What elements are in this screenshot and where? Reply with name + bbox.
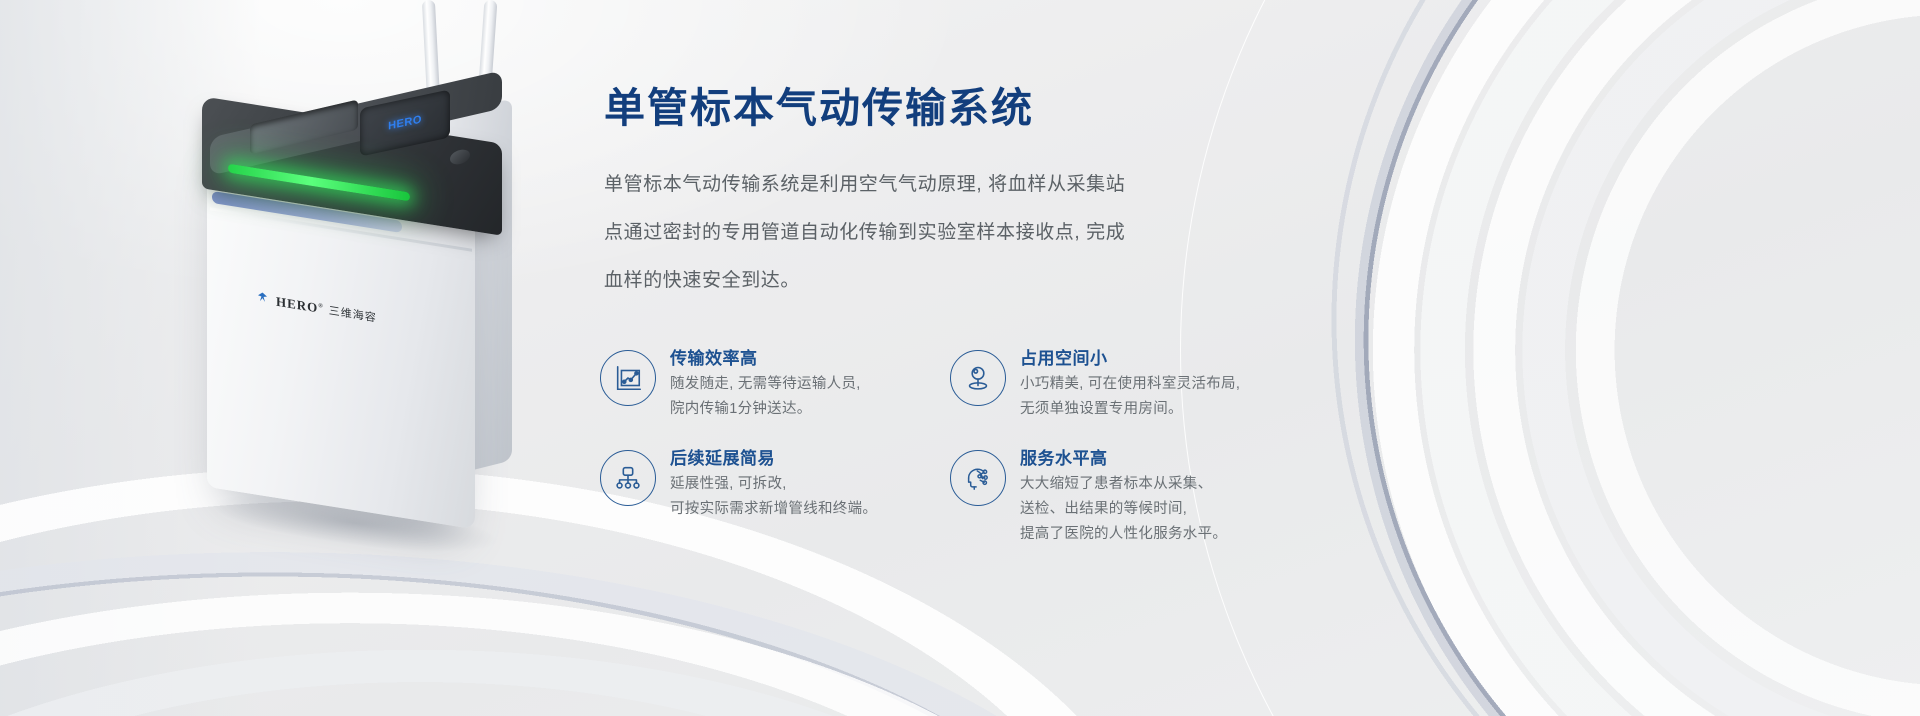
smart-head-icon xyxy=(950,450,1006,506)
screen-logo-text: HERO xyxy=(388,113,422,132)
feature-description: 延展性强, 可拆改, 可按实际需求新增管线和终端。 xyxy=(670,472,877,522)
feature-text: 后续延展简易 延展性强, 可拆改, 可按实际需求新增管线和终端。 xyxy=(670,448,877,522)
feature-title: 占用空间小 xyxy=(1020,348,1240,371)
product-image: HERO HERO® 三维海容 xyxy=(150,0,570,560)
feature-text: 服务水平高 大大缩短了患者标本从采集、 送检、出结果的等候时间, 提高了医院的人… xyxy=(1020,448,1227,547)
description-line: 单管标本气动传输系统是利用空气气动原理, 将血样从采集站 xyxy=(604,161,1264,209)
feature-description: 大大缩短了患者标本从采集、 送检、出结果的等候时间, 提高了医院的人性化服务水平… xyxy=(1020,472,1227,547)
feature-desc-line: 小巧精美, 可在使用科室灵活布局, xyxy=(1020,372,1240,397)
space-pin-icon xyxy=(950,350,1006,406)
feature-row-top: 传输效率高 随发随走, 无需等待运输人员, 院内传输1分钟送达。 xyxy=(600,348,1300,448)
feature-desc-line: 送检、出结果的等候时间, xyxy=(1020,497,1227,522)
feature-desc-line: 延展性强, 可拆改, xyxy=(670,472,877,497)
feature-desc-line: 随发随走, 无需等待运输人员, xyxy=(670,372,861,397)
feature-item-service-level: 服务水平高 大大缩短了患者标本从采集、 送检、出结果的等候时间, 提高了医院的人… xyxy=(950,448,1300,547)
banner-stage: HERO HERO® 三维海容 单管标本气动传输系统 单管标本气动传输系统是利用… xyxy=(0,0,1920,716)
hero-mark-icon xyxy=(255,290,271,309)
page-description: 单管标本气动传输系统是利用空气气动原理, 将血样从采集站 点通过密封的专用管道自… xyxy=(604,161,1264,305)
feature-title: 服务水平高 xyxy=(1020,448,1227,471)
feature-desc-line: 无须单独设置专用房间。 xyxy=(1020,397,1240,422)
feature-desc-line: 提高了医院的人性化服务水平。 xyxy=(1020,522,1227,547)
content-block: 单管标本气动传输系统 单管标本气动传输系统是利用空气气动原理, 将血样从采集站 … xyxy=(604,86,1304,305)
page-title: 单管标本气动传输系统 xyxy=(604,86,1304,131)
feature-item-transfer-efficiency: 传输效率高 随发随走, 无需等待运输人员, 院内传输1分钟送达。 xyxy=(600,348,950,422)
feature-title: 传输效率高 xyxy=(670,348,861,371)
feature-text: 传输效率高 随发随走, 无需等待运输人员, 院内传输1分钟送达。 xyxy=(670,348,861,422)
feature-text: 占用空间小 小巧精美, 可在使用科室灵活布局, 无须单独设置专用房间。 xyxy=(1020,348,1240,422)
feature-row-bottom: 后续延展简易 延展性强, 可拆改, 可按实际需求新增管线和终端。 xyxy=(600,448,1300,547)
feature-desc-line: 大大缩短了患者标本从采集、 xyxy=(1020,472,1227,497)
feature-description: 小巧精美, 可在使用科室灵活布局, 无须单独设置专用房间。 xyxy=(1020,372,1240,422)
feature-title: 后续延展简易 xyxy=(670,448,877,471)
feature-item-small-footprint: 占用空间小 小巧精美, 可在使用科室灵活布局, 无须单独设置专用房间。 xyxy=(950,348,1300,422)
feature-desc-line: 可按实际需求新增管线和终端。 xyxy=(670,497,877,522)
feature-item-easy-expansion: 后续延展简易 延展性强, 可拆改, 可按实际需求新增管线和终端。 xyxy=(600,448,950,547)
feature-grid: 传输效率高 随发随走, 无需等待运输人员, 院内传输1分钟送达。 xyxy=(600,348,1300,547)
description-line: 血样的快速安全到达。 xyxy=(604,257,1264,305)
feature-description: 随发随走, 无需等待运输人员, 院内传输1分钟送达。 xyxy=(670,372,861,422)
chart-growth-icon xyxy=(600,350,656,406)
network-hierarchy-icon xyxy=(600,450,656,506)
description-line: 点通过密封的专用管道自动化传输到实验室样本接收点, 完成 xyxy=(604,209,1264,257)
feature-desc-line: 院内传输1分钟送达。 xyxy=(670,397,861,422)
